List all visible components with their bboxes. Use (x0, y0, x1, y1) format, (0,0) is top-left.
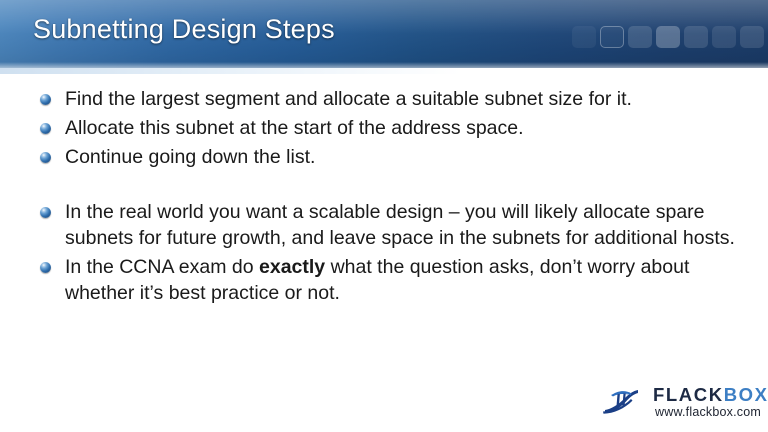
flackbox-wordmark: FLACKBOX (653, 384, 768, 406)
slide-header: Subnetting Design Steps (0, 0, 768, 70)
bullet-text-4: In the real world you want a scalable de… (65, 199, 750, 251)
bullet-sphere-icon (40, 262, 51, 273)
list-item: In the real world you want a scalable de… (40, 199, 750, 251)
presentation-slide: Subnetting Design Steps Find the largest… (0, 0, 768, 432)
list-spacer (40, 173, 750, 199)
bullet-text-2: Allocate this subnet at the start of the… (65, 115, 750, 141)
bullet-text-1: Find the largest segment and allocate a … (65, 86, 750, 112)
deco-square-6 (712, 26, 736, 48)
list-item: Continue going down the list. (40, 144, 750, 170)
deco-square-2 (600, 26, 624, 48)
bullet-text-5: In the CCNA exam do exactly what the que… (65, 254, 750, 306)
header-bottom-fade (0, 62, 768, 70)
deco-square-4 (656, 26, 680, 48)
logo-word-box: BOX (724, 384, 768, 405)
bullet-sphere-icon (40, 207, 51, 218)
list-item: Find the largest segment and allocate a … (40, 86, 750, 112)
logo-url-text: www.flackbox.com (655, 405, 761, 419)
list-item: In the CCNA exam do exactly what the que… (40, 254, 750, 306)
list-item: Allocate this subnet at the start of the… (40, 115, 750, 141)
deco-square-3 (628, 26, 652, 48)
slide-body: Find the largest segment and allocate a … (40, 86, 750, 309)
bullet-5-emphasis: exactly (259, 256, 325, 278)
bullet-sphere-icon (40, 152, 51, 163)
bullet-5-prefix: In the CCNA exam do (65, 256, 259, 278)
flackbox-logo: FLACKBOX www.flackbox.com (601, 383, 751, 423)
logo-word-flack: FLACK (653, 384, 724, 405)
bullet-sphere-icon (40, 94, 51, 105)
page-title: Subnetting Design Steps (33, 14, 335, 45)
flackbox-bridge-icon (601, 385, 653, 417)
deco-square-1 (572, 26, 596, 48)
bullet-text-3: Continue going down the list. (65, 144, 750, 170)
header-decorative-squares (572, 26, 764, 48)
deco-square-7 (740, 26, 764, 48)
bullet-sphere-icon (40, 123, 51, 134)
deco-square-5 (684, 26, 708, 48)
